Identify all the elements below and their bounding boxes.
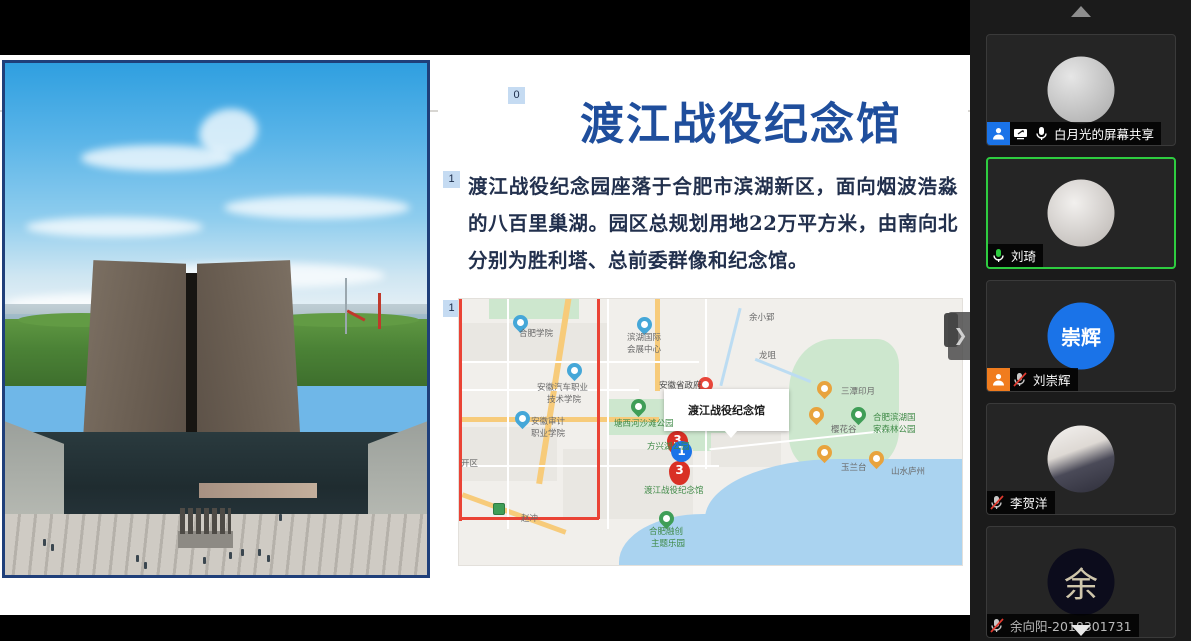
map-expressway-icon	[493, 503, 505, 515]
screen-root: 0 渡江战役纪念馆 1 渡江战役纪念园座落于合肥市滨湖新区，面向烟波浩淼的八百里…	[0, 0, 1191, 641]
map-label: 技术学院	[547, 395, 581, 405]
map-label: 玉兰台	[841, 463, 867, 473]
avatar	[1048, 57, 1115, 124]
ramp	[199, 483, 317, 498]
participant-name: 李贺洋	[1008, 493, 1055, 512]
triangle-up-icon[interactable]	[970, 0, 1191, 22]
map-road	[461, 492, 566, 534]
visitor	[258, 549, 261, 556]
chevron-right-icon[interactable]: ❯	[948, 312, 970, 360]
map-label: 赵冲	[521, 514, 538, 524]
screen-share-icon	[1010, 127, 1031, 140]
participant-namebar: 白月光的屏幕共享	[987, 122, 1161, 145]
visitor	[203, 557, 206, 564]
visitor	[43, 539, 46, 546]
map-label: 滨湖国际	[627, 333, 661, 343]
visitor	[51, 544, 54, 551]
visitor	[229, 552, 232, 559]
participant-name: 白月光的屏幕共享	[1052, 124, 1161, 143]
map-block	[563, 449, 693, 519]
map-label: 渡江战役纪念馆	[644, 486, 704, 496]
mic-icon[interactable]	[988, 248, 1009, 263]
map-label: 龙咀	[759, 351, 776, 361]
participant-namebar: 刘琦	[988, 244, 1043, 267]
map-street	[507, 299, 509, 529]
participant-tile[interactable]: 刘琦	[986, 157, 1176, 269]
statue-group	[180, 508, 231, 534]
avatar	[1048, 180, 1115, 247]
map-label: 合肥融创	[649, 527, 683, 537]
triangle-down-icon[interactable]	[970, 619, 1191, 641]
lake-chaohu	[619, 514, 759, 566]
crane-icon	[378, 293, 381, 329]
body-marker: 1	[443, 171, 460, 188]
tower	[345, 278, 347, 334]
map-pin-poi[interactable]	[634, 314, 655, 335]
map-label: 安徽审计	[531, 417, 565, 427]
participant-namebar: 李贺洋	[987, 491, 1055, 514]
shared-screen-area[interactable]: 0 渡江战役纪念馆 1 渡江战役纪念园座落于合肥市滨湖新区，面向烟波浩淼的八百里…	[0, 0, 970, 641]
visitor	[267, 555, 270, 562]
cloud	[224, 196, 410, 219]
visitor	[241, 549, 244, 556]
mic-muted-icon[interactable]	[1010, 372, 1031, 387]
participant-strip[interactable]: 白月光的屏幕共享刘琦崇辉刘崇辉李贺洋余余向阳-2018301731	[970, 0, 1191, 641]
map-block	[711, 433, 781, 467]
map-label: 塘西河沙滩公园	[614, 419, 674, 429]
map-label: 樱花谷	[831, 425, 857, 435]
page-title: 渡江战役纪念馆	[526, 88, 956, 152]
map-label: 职业学院	[531, 429, 565, 439]
map-label: 合肥学院	[519, 329, 553, 339]
presentation-slide[interactable]: 0 渡江战役纪念馆 1 渡江战役纪念园座落于合肥市滨湖新区，面向烟波浩淼的八百里…	[0, 55, 970, 615]
host-person-icon	[987, 368, 1010, 391]
visitor	[279, 514, 282, 521]
location-map[interactable]: 3 3 1 渡江战役纪念馆 合肥学院安徽汽车职业技术学院安徽审计职业学院开区赵冲…	[458, 298, 963, 566]
map-label: 余小郢	[749, 313, 775, 323]
title-marker: 0	[508, 87, 525, 104]
map-label: 家森林公园	[873, 425, 916, 435]
museum-wing-left	[83, 260, 186, 439]
avatar: 余	[1048, 549, 1115, 616]
map-label: 方兴湖公园	[647, 442, 690, 452]
avatar	[1048, 426, 1115, 493]
participant-namebar: 刘崇辉	[987, 368, 1078, 391]
highlighted-route	[597, 298, 600, 519]
participant-name: 刘琦	[1009, 246, 1043, 265]
highlighted-route	[459, 299, 462, 521]
map-green-area	[789, 339, 899, 469]
participant-tile[interactable]: 崇辉刘崇辉	[986, 280, 1176, 392]
map-label: 安徽省政府	[659, 381, 702, 391]
museum-photo	[2, 60, 430, 578]
map-pin-poi[interactable]	[512, 408, 533, 429]
river	[719, 308, 741, 386]
map-street	[607, 299, 609, 529]
map-tooltip: 渡江战役纪念馆	[664, 389, 789, 431]
visitor	[136, 555, 139, 562]
map-label: 主题乐园	[651, 539, 685, 549]
visitor	[144, 562, 147, 569]
participant-tile[interactable]: 李贺洋	[986, 403, 1176, 515]
map-label: 山水庐州	[891, 467, 925, 477]
map-pin-poi[interactable]	[564, 360, 585, 381]
mic-muted-icon[interactable]	[987, 495, 1008, 510]
map-label: 会展中心	[627, 345, 661, 355]
map-label: 开区	[461, 459, 478, 469]
map-label: 合肥滨湖国	[873, 413, 916, 423]
slide-body-text: 渡江战役纪念园座落于合肥市滨湖新区，面向烟波浩淼的八百里巢湖。园区总规划用地22…	[468, 168, 958, 279]
avatar: 崇辉	[1048, 303, 1115, 370]
participant-name: 刘崇辉	[1031, 370, 1078, 389]
map-street	[459, 361, 699, 363]
slide-content-column: 0 渡江战役纪念馆 1 渡江战役纪念园座落于合肥市滨湖新区，面向烟波浩淼的八百里…	[438, 60, 968, 615]
mic-icon[interactable]	[1031, 126, 1052, 141]
map-label: 安徽汽车职业	[537, 383, 588, 393]
cloud	[26, 217, 203, 237]
map-label: 三潭印月	[841, 387, 875, 397]
museum-wing-right	[197, 260, 300, 439]
host-person-icon	[987, 122, 1010, 145]
participant-tile[interactable]: 白月光的屏幕共享	[986, 34, 1176, 146]
